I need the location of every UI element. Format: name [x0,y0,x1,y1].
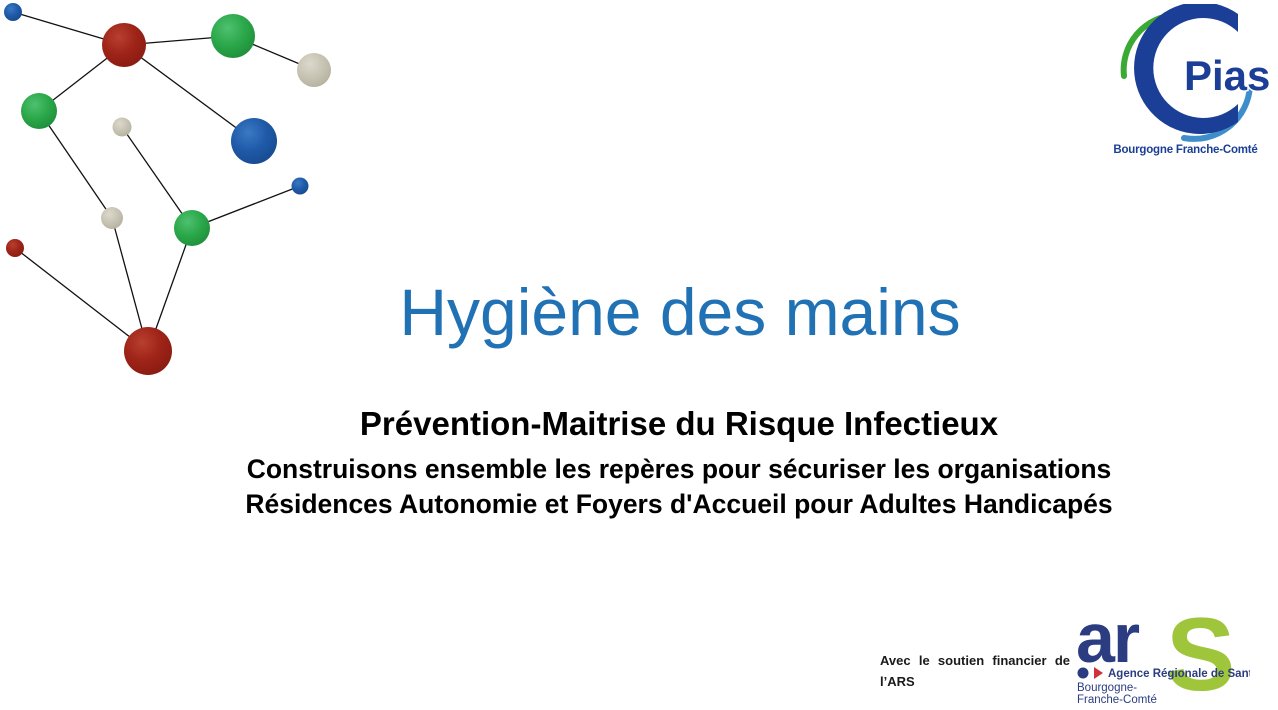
subtitle-line-2: Construisons ensemble les repères pour s… [139,452,1219,487]
network-node [113,118,132,137]
network-node [21,93,57,129]
subtitle-line-1: Prévention-Maitrise du Risque Infectieux [139,405,1219,444]
cpias-caption: Bourgogne Franche-Comté [1098,144,1273,156]
ars-region-line-1: Bourgogne- [1077,682,1137,694]
ars-tagline: Agence Régionale de Santé [1108,668,1250,680]
cpias-wordmark: Pias [1184,52,1270,99]
cpias-logo-mark: Pias [1098,4,1273,144]
network-node [124,327,172,375]
funding-credit: Avec le soutien financier de l’ARS Bourg… [880,650,1070,710]
subtitle-block: Prévention-Maitrise du Risque Infectieux… [139,405,1219,522]
network-edge [15,248,148,351]
network-node [292,178,309,195]
ars-logo: S ar Agence Régionale de Santé Bourgogne… [1070,604,1250,704]
network-node [4,3,22,21]
network-node [6,239,24,257]
network-edge [124,45,254,141]
funding-credit-line-1: Avec le soutien financier de l’ARS [880,650,1070,710]
subtitle-line-3: Résidences Autonomie et Foyers d'Accueil… [139,487,1219,522]
network-edge [39,111,112,218]
ars-region-line-2: Franche-Comté [1077,694,1157,704]
network-node [102,23,146,67]
network-node [231,118,277,164]
ars-wordmark-ar: ar [1076,604,1140,677]
network-edge [122,127,192,228]
network-node [101,207,123,229]
ars-wordmark-s: S [1166,604,1235,704]
slide-canvas: Pias Bourgogne Franche-Comté Hygiène des… [0,0,1278,710]
ars-bullet-icon [1078,668,1089,679]
page-title: Hygiène des mains [180,278,1180,347]
network-node [211,14,255,58]
ars-logo-mark: S ar Agence Régionale de Santé Bourgogne… [1070,604,1250,704]
network-node [297,53,331,87]
cpias-logo: Pias Bourgogne Franche-Comté [1098,4,1273,169]
network-node [174,210,210,246]
